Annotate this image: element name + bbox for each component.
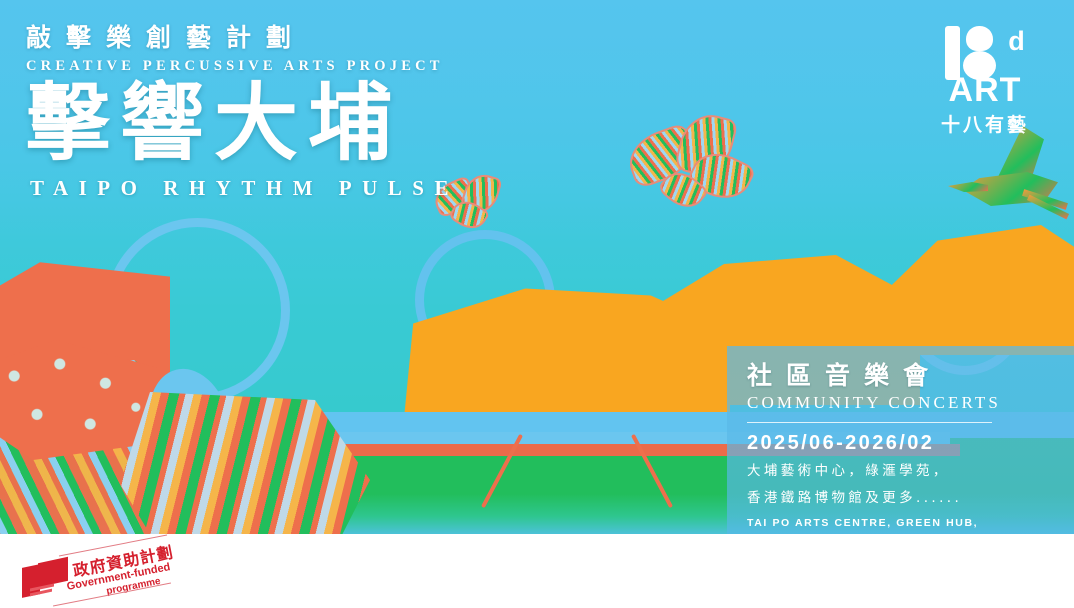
panel-venues-english-line1: TAI PO ARTS CENTRE, GREEN HUB, [747, 516, 1054, 531]
kicker-chinese: 敲擊樂創藝計劃 [26, 24, 666, 53]
poster-headline: 敲擊樂創藝計劃 CREATIVE PERCUSSIVE ARTS PROJECT… [26, 24, 666, 201]
brand-logo-18dart[interactable]: d ART 十八有藝 [920, 26, 1050, 137]
poster-title-chinese: 擊響大埔 [26, 81, 666, 167]
poster-root: 敲擊樂創藝計劃 CREATIVE PERCUSSIVE ARTS PROJECT… [0, 0, 1074, 608]
panel-divider [747, 422, 992, 423]
panel-venues-chinese-line1: 大埔藝術中心，綠滙學苑， [747, 461, 1054, 483]
panel-heading-chinese: 社區音樂會 [747, 362, 1054, 390]
poster-footer: 政府資助計劃 Government-funded programme 主辦 Pr… [0, 534, 1074, 608]
panel-venues-chinese-line2: 香港鐵路博物館及更多...... [747, 488, 1054, 510]
brand-mark-18-icon [945, 26, 1007, 80]
poster-title-english: TAIPO RHYTHM PULSE [30, 176, 666, 201]
gov-mark-icon [22, 560, 70, 596]
community-concerts-panel: 社區音樂會 COMMUNITY CONCERTS 2025/06-2026/02… [727, 346, 1074, 534]
kicker-english: CREATIVE PERCUSSIVE ARTS PROJECT [26, 58, 666, 75]
egret-bird-icon [948, 126, 1068, 238]
government-funded-programme-logo[interactable]: 政府資助計劃 Government-funded programme [18, 540, 178, 600]
scene-shape-orange-far-right [880, 225, 1074, 355]
brand-chinese: 十八有藝 [920, 110, 1050, 137]
panel-date-range: 2025/06-2026/02 [747, 432, 1054, 455]
panel-heading-english: COMMUNITY CONCERTS [747, 393, 1054, 413]
brand-superscript-d: d [1008, 28, 1025, 55]
